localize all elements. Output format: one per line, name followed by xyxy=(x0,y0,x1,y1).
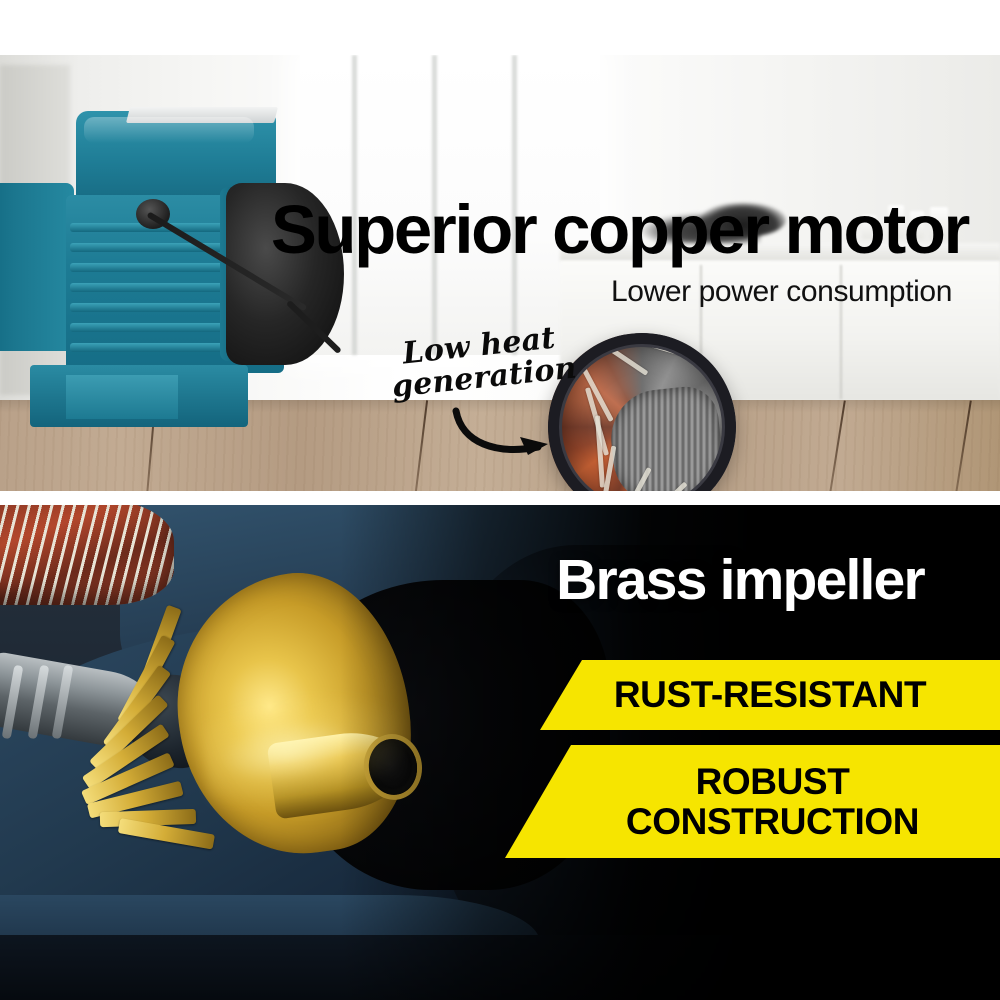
pump-lid-highlight xyxy=(84,117,254,143)
top-subheadline: Lower power consumption xyxy=(0,277,952,307)
curved-arrow-icon xyxy=(452,403,572,467)
feature-banner-robust-construction: ROBUST CONSTRUCTION xyxy=(505,745,1000,858)
top-feature-panel: Superior copper motor Lower power consum… xyxy=(0,55,1000,491)
banner-label-line-2: CONSTRUCTION xyxy=(626,802,919,842)
banner-label: RUST-RESISTANT xyxy=(614,674,926,716)
product-feature-poster: Superior copper motor Lower power consum… xyxy=(0,0,1000,1000)
banner-label-group: ROBUST CONSTRUCTION xyxy=(586,762,919,842)
feature-banner-rust-resistant: RUST-RESISTANT xyxy=(540,660,1000,730)
pump-base-plate xyxy=(66,375,178,419)
pump-motor-product-image xyxy=(0,103,338,443)
banner-label-line-1: ROBUST xyxy=(626,762,919,802)
top-headline: Superior copper motor xyxy=(0,195,968,264)
panel-divider xyxy=(0,491,1000,505)
bottom-headline: Brass impeller xyxy=(500,552,980,609)
